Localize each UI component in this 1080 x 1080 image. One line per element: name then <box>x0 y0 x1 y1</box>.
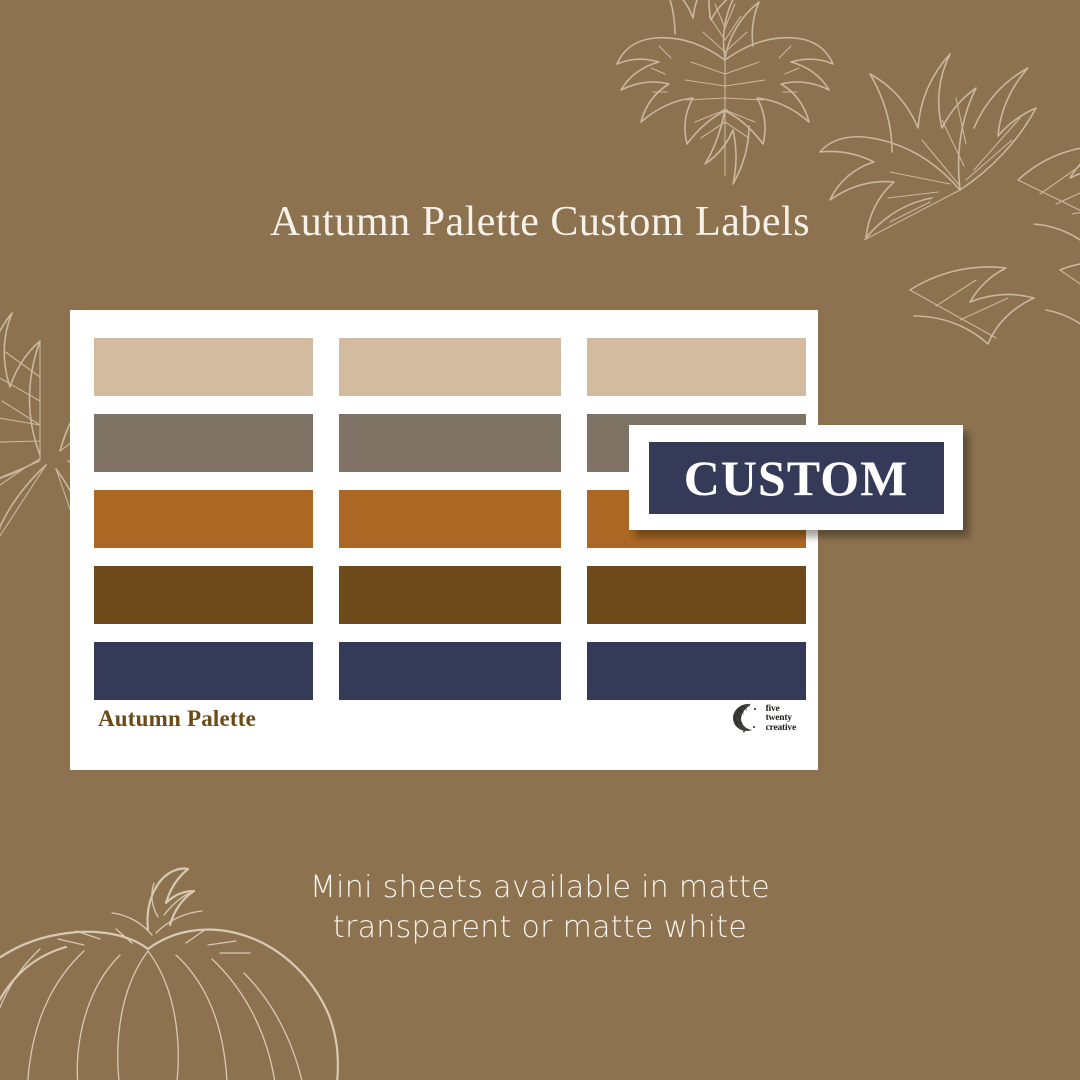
brand-logo-text: five twenty creative <box>766 705 796 734</box>
swatch-r5c1[interactable] <box>94 642 313 700</box>
swatch-r3c2[interactable] <box>339 490 561 548</box>
brand-logo: five twenty creative <box>729 700 796 739</box>
sheet-title: Autumn Palette <box>98 706 256 732</box>
swatch-r5c3[interactable] <box>587 642 806 700</box>
sheet-footer: Autumn Palette <box>98 694 796 744</box>
botanical-crescent-icon <box>729 700 763 739</box>
swatch-r4c3[interactable] <box>587 566 806 624</box>
swatch-r2c1[interactable] <box>94 414 313 472</box>
page-title: Autumn Palette Custom Labels <box>0 198 1080 246</box>
sticker-sheet-card: Autumn Palette <box>70 310 818 770</box>
maple-leaf-cluster-top-center-icon <box>575 0 875 200</box>
custom-badge[interactable]: CUSTOM <box>629 425 963 530</box>
swatch-r3c1[interactable] <box>94 490 313 548</box>
brand-line-3: creative <box>766 723 796 733</box>
brand-line-2: twenty <box>766 713 792 723</box>
swatch-r4c1[interactable] <box>94 566 313 624</box>
caption-line-1: Mini sheets available in matte <box>0 868 1080 908</box>
custom-badge-panel: CUSTOM <box>649 442 944 514</box>
swatch-r1c2[interactable] <box>339 338 561 396</box>
caption-line-2: transparent or matte white <box>0 908 1080 948</box>
poster-canvas: Autumn Palette Custom Labels Autumn Pale… <box>0 0 1080 1080</box>
swatch-r5c2[interactable] <box>339 642 561 700</box>
caption: Mini sheets available in matte transpare… <box>0 868 1080 947</box>
custom-badge-label: CUSTOM <box>684 453 909 503</box>
swatch-r1c1[interactable] <box>94 338 313 396</box>
swatch-r2c2[interactable] <box>339 414 561 472</box>
swatch-r1c3[interactable] <box>587 338 806 396</box>
swatch-r4c2[interactable] <box>339 566 561 624</box>
brand-line-1: five <box>766 704 780 714</box>
